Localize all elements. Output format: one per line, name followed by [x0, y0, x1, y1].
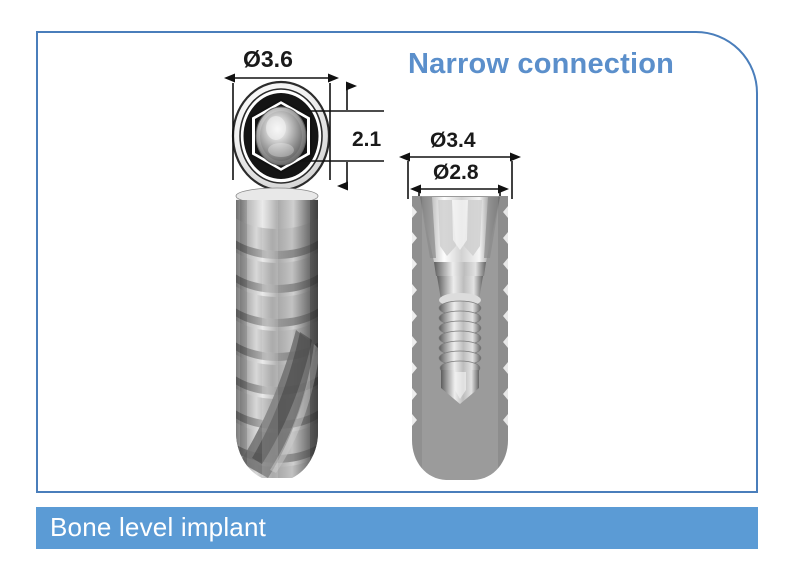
dimension-label-outer-diameter-top: Ø3.6	[243, 46, 293, 73]
cross-section-figure	[412, 196, 508, 480]
dimension-label-inner-diameter-side: Ø2.8	[433, 161, 479, 185]
implant-diagram	[0, 0, 800, 572]
page-title: Narrow connection	[408, 48, 674, 81]
slide-canvas: Narrow connection Ø3.6 2.1 Ø3.4 Ø2.8 Bon…	[0, 0, 800, 572]
dimension-label-outer-diameter-side: Ø3.4	[430, 129, 476, 153]
implant-body-figure	[230, 188, 324, 489]
top-view-figure	[233, 82, 329, 190]
dimension-label-hex-width: 2.1	[352, 128, 381, 152]
footer-bar: Bone level implant	[36, 507, 758, 549]
footer-title: Bone level implant	[50, 512, 266, 543]
